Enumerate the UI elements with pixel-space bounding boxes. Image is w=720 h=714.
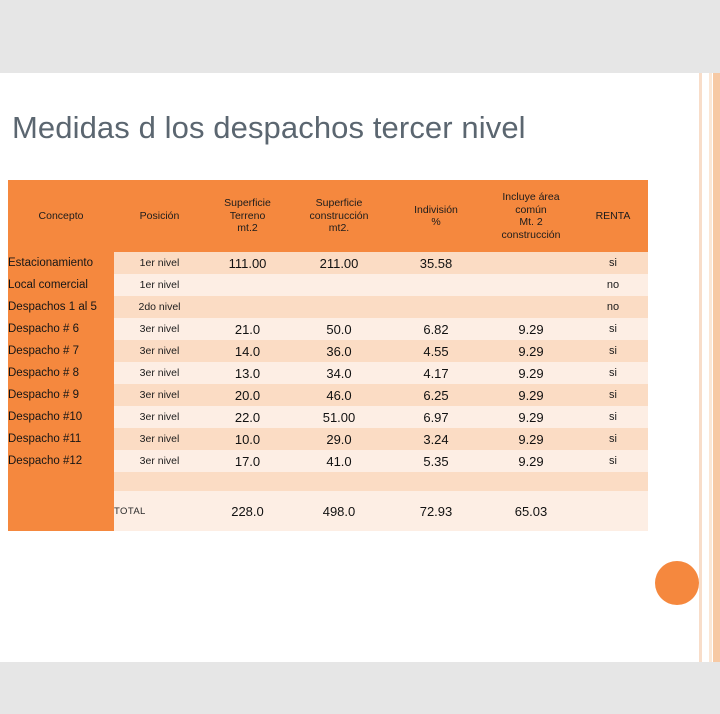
table-row: Despacho # 73er nivel14.036.04.559.29si [8,340,648,362]
cell-concepto: Despacho # 8 [8,362,114,384]
cell-concepto [8,491,114,531]
cell-terreno: 10.0 [205,428,290,450]
cell-terreno [205,274,290,296]
table-header-row: Concepto Posición Superficie Terreno mt.… [8,180,648,252]
cell-indivision: 6.25 [388,384,484,406]
cell-posicion: 1er nivel [114,274,205,296]
table-row: Despachos 1 al 52do nivelno [8,296,648,318]
table-body: Estacionamiento1er nivel111.00211.0035.5… [8,252,648,531]
cell-construccion: 46.0 [290,384,388,406]
cell-incluye: 9.29 [484,318,578,340]
cell-concepto: Despacho #10 [8,406,114,428]
cell-terreno: 20.0 [205,384,290,406]
slide-canvas: Medidas d los despachos tercer nivel Con… [0,73,720,662]
cell-concepto [8,472,114,491]
column-header-superficie-construccion: Superficie construcción mt2. [290,180,388,252]
cell-renta: no [578,274,648,296]
header-line: Concepto [8,210,114,223]
slide-edge-stripe-outer [713,73,720,662]
table-row: Despacho #103er nivel22.051.006.979.29si [8,406,648,428]
cell-renta: si [578,252,648,274]
table-row: Despacho #113er nivel10.029.03.249.29si [8,428,648,450]
header-line: RENTA [578,210,648,223]
header-line: mt.2 [205,222,290,235]
cell-construccion: 51.00 [290,406,388,428]
cell-total-indivision: 72.93 [388,491,484,531]
cell-posicion: 3er nivel [114,406,205,428]
header-line: Superficie [290,197,388,210]
cell-posicion: 3er nivel [114,450,205,472]
cell-indivision: 3.24 [388,428,484,450]
cell-terreno: 14.0 [205,340,290,362]
cell-construccion: 211.00 [290,252,388,274]
header-line: % [388,216,484,229]
cell-total-posicion: TOTAL [114,491,205,531]
table-row: Local comercial1er nivelno [8,274,648,296]
cell-posicion: 3er nivel [114,384,205,406]
cell-renta: si [578,384,648,406]
cell-posicion: 3er nivel [114,362,205,384]
cell-concepto: Despacho #11 [8,428,114,450]
slide-title: Medidas d los despachos tercer nivel [12,109,526,147]
table-row: Estacionamiento1er nivel111.00211.0035.5… [8,252,648,274]
cell-construccion: 36.0 [290,340,388,362]
header-line: Incluye área [484,191,578,204]
cell-renta: si [578,362,648,384]
cell-posicion: 3er nivel [114,340,205,362]
cell-incluye: 9.29 [484,340,578,362]
column-header-incluye-area-comun: Incluye área común Mt. 2 construcción [484,180,578,252]
table-row: Despacho #123er nivel17.041.05.359.29si [8,450,648,472]
table-row: Despacho # 83er nivel13.034.04.179.29si [8,362,648,384]
cell-incluye [484,472,578,491]
cell-incluye [484,296,578,318]
cell-terreno [205,472,290,491]
header-line: mt2. [290,222,388,235]
cell-incluye [484,274,578,296]
cell-posicion: 3er nivel [114,318,205,340]
cell-renta: no [578,296,648,318]
cell-total-incluye: 65.03 [484,491,578,531]
cell-concepto: Despacho # 6 [8,318,114,340]
cell-incluye: 9.29 [484,362,578,384]
cell-renta: si [578,450,648,472]
column-header-renta: RENTA [578,180,648,252]
table-row: Despacho # 63er nivel21.050.06.829.29si [8,318,648,340]
column-header-posicion: Posición [114,180,205,252]
cell-posicion: 3er nivel [114,428,205,450]
cell-concepto: Despacho # 7 [8,340,114,362]
cell-indivision: 6.97 [388,406,484,428]
column-header-superficie-terreno: Superficie Terreno mt.2 [205,180,290,252]
cell-indivision: 6.82 [388,318,484,340]
cell-terreno: 13.0 [205,362,290,384]
header-line: Posición [114,210,205,223]
cell-concepto: Despachos 1 al 5 [8,296,114,318]
header-line: construcción [290,210,388,223]
cell-terreno: 111.00 [205,252,290,274]
cell-terreno: 22.0 [205,406,290,428]
cell-construccion [290,296,388,318]
cell-incluye [484,252,578,274]
cell-construccion [290,472,388,491]
table-spacer-row [8,472,648,491]
cell-renta: si [578,318,648,340]
cell-incluye: 9.29 [484,384,578,406]
cell-renta [578,472,648,491]
slide-edge-stripe-middle [709,73,712,662]
header-line: Mt. 2 [484,216,578,229]
decorative-circle [655,561,699,605]
cell-construccion: 34.0 [290,362,388,384]
cell-concepto: Despacho #12 [8,450,114,472]
cell-indivision [388,296,484,318]
cell-construccion: 41.0 [290,450,388,472]
cell-construccion: 50.0 [290,318,388,340]
cell-indivision: 4.17 [388,362,484,384]
cell-total-terreno: 228.0 [205,491,290,531]
cell-indivision: 5.35 [388,450,484,472]
cell-renta: si [578,428,648,450]
cell-concepto: Local comercial [8,274,114,296]
cell-total-construccion: 498.0 [290,491,388,531]
cell-construccion: 29.0 [290,428,388,450]
column-header-concepto: Concepto [8,180,114,252]
cell-posicion: 2do nivel [114,296,205,318]
cell-incluye: 9.29 [484,406,578,428]
cell-posicion: 1er nivel [114,252,205,274]
cell-renta: si [578,406,648,428]
cell-terreno: 17.0 [205,450,290,472]
header-line: común [484,204,578,217]
cell-terreno [205,296,290,318]
cell-concepto: Despacho # 9 [8,384,114,406]
header-line: Indivisión [388,204,484,217]
slide-edge-stripe-inner [699,73,702,662]
table-total-row: TOTAL228.0498.072.9365.03 [8,491,648,531]
cell-total-renta [578,491,648,531]
cell-indivision: 35.58 [388,252,484,274]
cell-concepto: Estacionamiento [8,252,114,274]
column-header-indivision: Indivisión % [388,180,484,252]
cell-indivision [388,274,484,296]
cell-posicion [114,472,205,491]
cell-incluye: 9.29 [484,450,578,472]
cell-incluye: 9.29 [484,428,578,450]
cell-indivision: 4.55 [388,340,484,362]
measurements-table: Concepto Posición Superficie Terreno mt.… [8,180,648,531]
header-line: construcción [484,229,578,242]
cell-indivision [388,472,484,491]
cell-construccion [290,274,388,296]
header-line: Terreno [205,210,290,223]
cell-terreno: 21.0 [205,318,290,340]
header-line: Superficie [205,197,290,210]
table-row: Despacho # 93er nivel20.046.06.259.29si [8,384,648,406]
cell-renta: si [578,340,648,362]
